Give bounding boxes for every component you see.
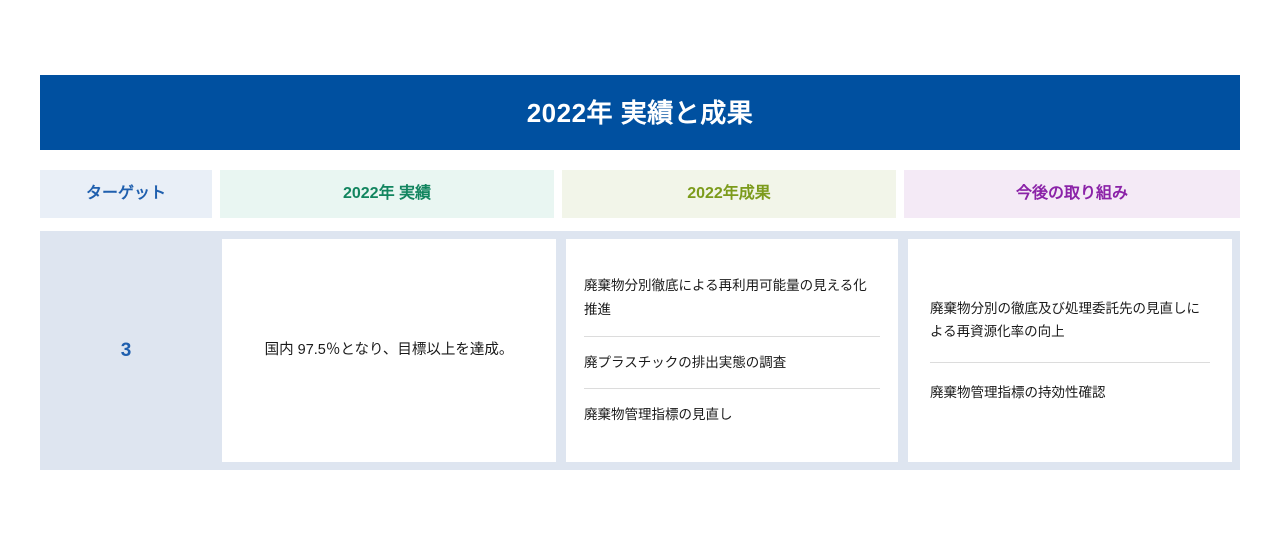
column-header-outcome: 2022年成果	[562, 170, 896, 218]
outcome-item-list: 廃棄物分別徹底による再利用可能量の見える化推進 廃プラスチックの排出実態の調査 …	[566, 260, 898, 441]
column-header-outcome-label: 2022年成果	[687, 186, 771, 202]
list-item: 廃棄物管理指標の見直し	[584, 388, 880, 441]
column-header-target: ターゲット	[40, 170, 212, 218]
cell-future: 廃棄物分別の徹底及び処理委託先の見直しによる再資源化率の向上 廃棄物管理指標の持…	[898, 231, 1240, 470]
cell-result: 国内 97.5％となり、目標以上を達成。	[212, 231, 556, 470]
future-card: 廃棄物分別の徹底及び処理委託先の見直しによる再資源化率の向上 廃棄物管理指標の持…	[908, 239, 1232, 462]
column-header-future: 今後の取り組み	[904, 170, 1240, 218]
column-header-target-label: ターゲット	[86, 186, 166, 202]
column-header-row: ターゲット 2022年 実績 2022年成果 今後の取り組み	[40, 170, 1240, 218]
slide-title-bar: 2022年 実績と成果	[40, 75, 1240, 150]
table-row: 3 国内 97.5％となり、目標以上を達成。 廃棄物分別徹底による再利用可能量の…	[40, 231, 1240, 470]
outcome-card: 廃棄物分別徹底による再利用可能量の見える化推進 廃プラスチックの排出実態の調査 …	[566, 239, 898, 462]
list-item: 廃棄物分別徹底による再利用可能量の見える化推進	[584, 260, 880, 335]
cell-target: 3	[40, 231, 212, 470]
list-item: 廃棄物管理指標の持効性確認	[930, 362, 1210, 423]
slide-title: 2022年 実績と成果	[527, 100, 754, 126]
column-header-result: 2022年 実績	[220, 170, 554, 218]
slide-root: 2022年 実績と成果 ターゲット 2022年 実績 2022年成果 今後の取り…	[0, 0, 1280, 543]
target-number: 3	[121, 341, 132, 360]
future-item-list: 廃棄物分別の徹底及び処理委託先の見直しによる再資源化率の向上 廃棄物管理指標の持…	[908, 279, 1232, 423]
cell-outcome: 廃棄物分別徹底による再利用可能量の見える化推進 廃プラスチックの排出実態の調査 …	[556, 231, 898, 470]
list-item: 廃プラスチックの排出実態の調査	[584, 336, 880, 389]
result-card: 国内 97.5％となり、目標以上を達成。	[222, 239, 556, 462]
result-text: 国内 97.5％となり、目標以上を達成。	[247, 338, 532, 363]
column-header-result-label: 2022年 実績	[343, 186, 431, 202]
column-header-future-label: 今後の取り組み	[1016, 186, 1128, 202]
list-item: 廃棄物分別の徹底及び処理委託先の見直しによる再資源化率の向上	[930, 279, 1210, 362]
